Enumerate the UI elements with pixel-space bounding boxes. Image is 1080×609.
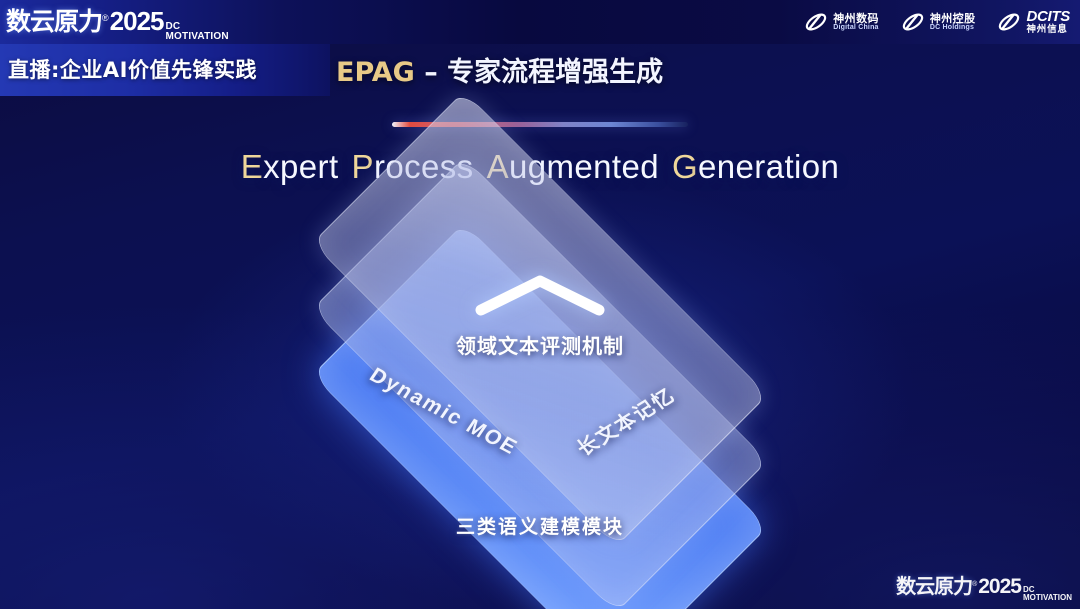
logo-dc-holdings-text: 神州控股 DC Holdings	[930, 13, 976, 32]
swirl-logo-icon	[901, 10, 925, 34]
registered-mark-icon: ®	[972, 581, 977, 588]
logo-dc-holdings: 神州控股 DC Holdings	[901, 10, 976, 34]
logo-dcits-text: DCITS 神州信息	[1026, 9, 1070, 35]
watermark-dc-line2: MOTIVATION	[1023, 594, 1072, 602]
swirl-logo-icon	[804, 10, 828, 34]
header-bar: 数云原力 ® 2025 DC MOTIVATION 神州数码 Digital C…	[0, 0, 1080, 44]
watermark-logo: 数云原力 ® 2025 DC MOTIVATION	[896, 570, 1072, 603]
logo-digital-china: 神州数码 Digital China	[804, 10, 879, 34]
expanded-cap: E	[241, 148, 263, 185]
logo-name-cn: 神州信息	[1026, 25, 1070, 35]
layer-stack-diagram: 领域文本评测机制 Dynamic MOE 长文本记忆 三类语义建模模块	[290, 228, 790, 568]
partner-logos: 神州数码 Digital China 神州控股 DC Holdings	[804, 9, 1080, 35]
expanded-word-generation: Generation	[672, 148, 839, 185]
slide-canvas: 数云原力 ® 2025 DC MOTIVATION 神州数码 Digital C…	[0, 0, 1080, 609]
logo-name-cn: 神州数码	[833, 13, 879, 25]
expanded-word-expert: Expert	[241, 148, 339, 185]
live-label: 直播:企业AI价值先锋实践	[8, 54, 322, 84]
brand-dc-motivation: DC MOTIVATION	[166, 22, 229, 42]
logo-name-cn: 神州控股	[930, 13, 976, 25]
brand-name-cn: 数云原力	[6, 2, 102, 38]
swirl-logo-icon	[997, 10, 1021, 34]
logo-name-en: DC Holdings	[930, 24, 976, 31]
brand-dc-line1: DC	[166, 22, 229, 32]
logo-dcits: DCITS 神州信息	[997, 9, 1070, 35]
brand-year: 2025	[110, 6, 164, 37]
expanded-cap: G	[672, 148, 698, 185]
logo-name-en: Digital China	[833, 24, 879, 31]
title-acronym: EPAG	[336, 57, 415, 88]
subheader-row: 直播:企业AI价值先锋实践 EPAG – 专家流程增强生成	[0, 44, 1080, 96]
chevron-up-icon	[473, 272, 607, 318]
watermark-dc-motivation: DC MOTIVATION	[1023, 586, 1072, 602]
title-separator: –	[415, 57, 447, 88]
expanded-cap: P	[352, 148, 374, 185]
page-title: EPAG – 专家流程增强生成	[336, 50, 896, 89]
brand-dc-line2: MOTIVATION	[166, 32, 229, 42]
watermark-year: 2025	[978, 575, 1021, 599]
expanded-rest: eneration	[698, 148, 839, 185]
brand-logo: 数云原力 ® 2025 DC MOTIVATION	[0, 2, 229, 43]
title-chinese: 专家流程增强生成	[447, 57, 663, 88]
registered-mark-icon: ®	[102, 13, 109, 23]
logo-digital-china-text: 神州数码 Digital China	[833, 13, 879, 32]
watermark-name-cn: 数云原力	[896, 570, 972, 599]
logo-name-en: DCITS	[1026, 9, 1070, 25]
expanded-rest: xpert	[263, 148, 338, 185]
